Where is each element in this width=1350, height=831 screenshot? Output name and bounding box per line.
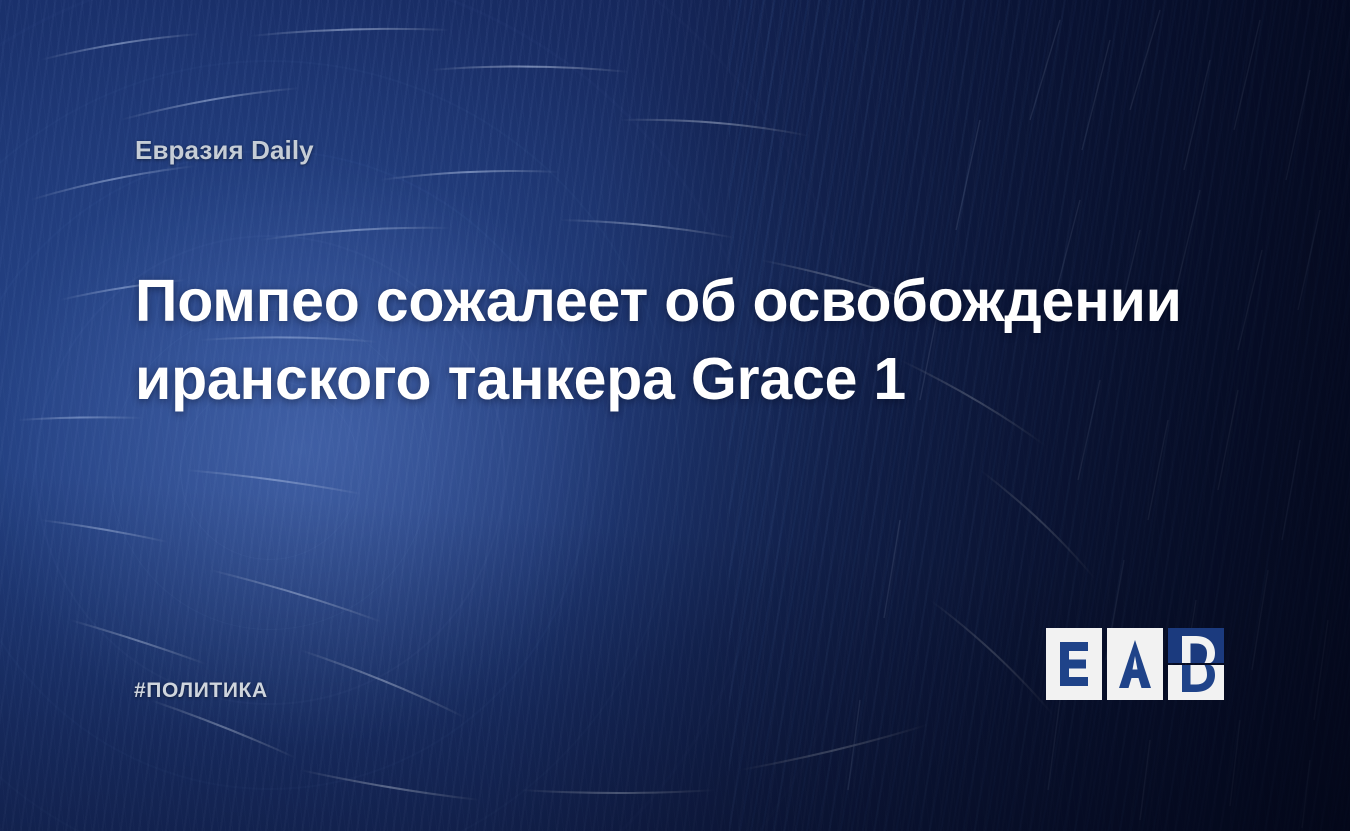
logo-tile-a (1107, 628, 1163, 700)
page-title: Помпео сожалеет об освобождении иранског… (135, 262, 1135, 418)
logo-tile-e (1046, 628, 1102, 700)
headline-line-2: иранского танкера Grace 1 (135, 340, 1135, 418)
brand-name: Евразия Daily (135, 135, 314, 166)
logo-tile-d (1168, 628, 1224, 700)
category-tag: #ПОЛИТИКА (134, 679, 268, 703)
headline-line-1: Помпео сожалеет об освобождении (135, 262, 1135, 340)
card-content: Евразия Daily Помпео сожалеет об освобож… (0, 0, 1350, 831)
news-share-card: Евразия Daily Помпео сожалеет об освобож… (0, 0, 1350, 831)
ead-logo[interactable] (1046, 628, 1224, 700)
